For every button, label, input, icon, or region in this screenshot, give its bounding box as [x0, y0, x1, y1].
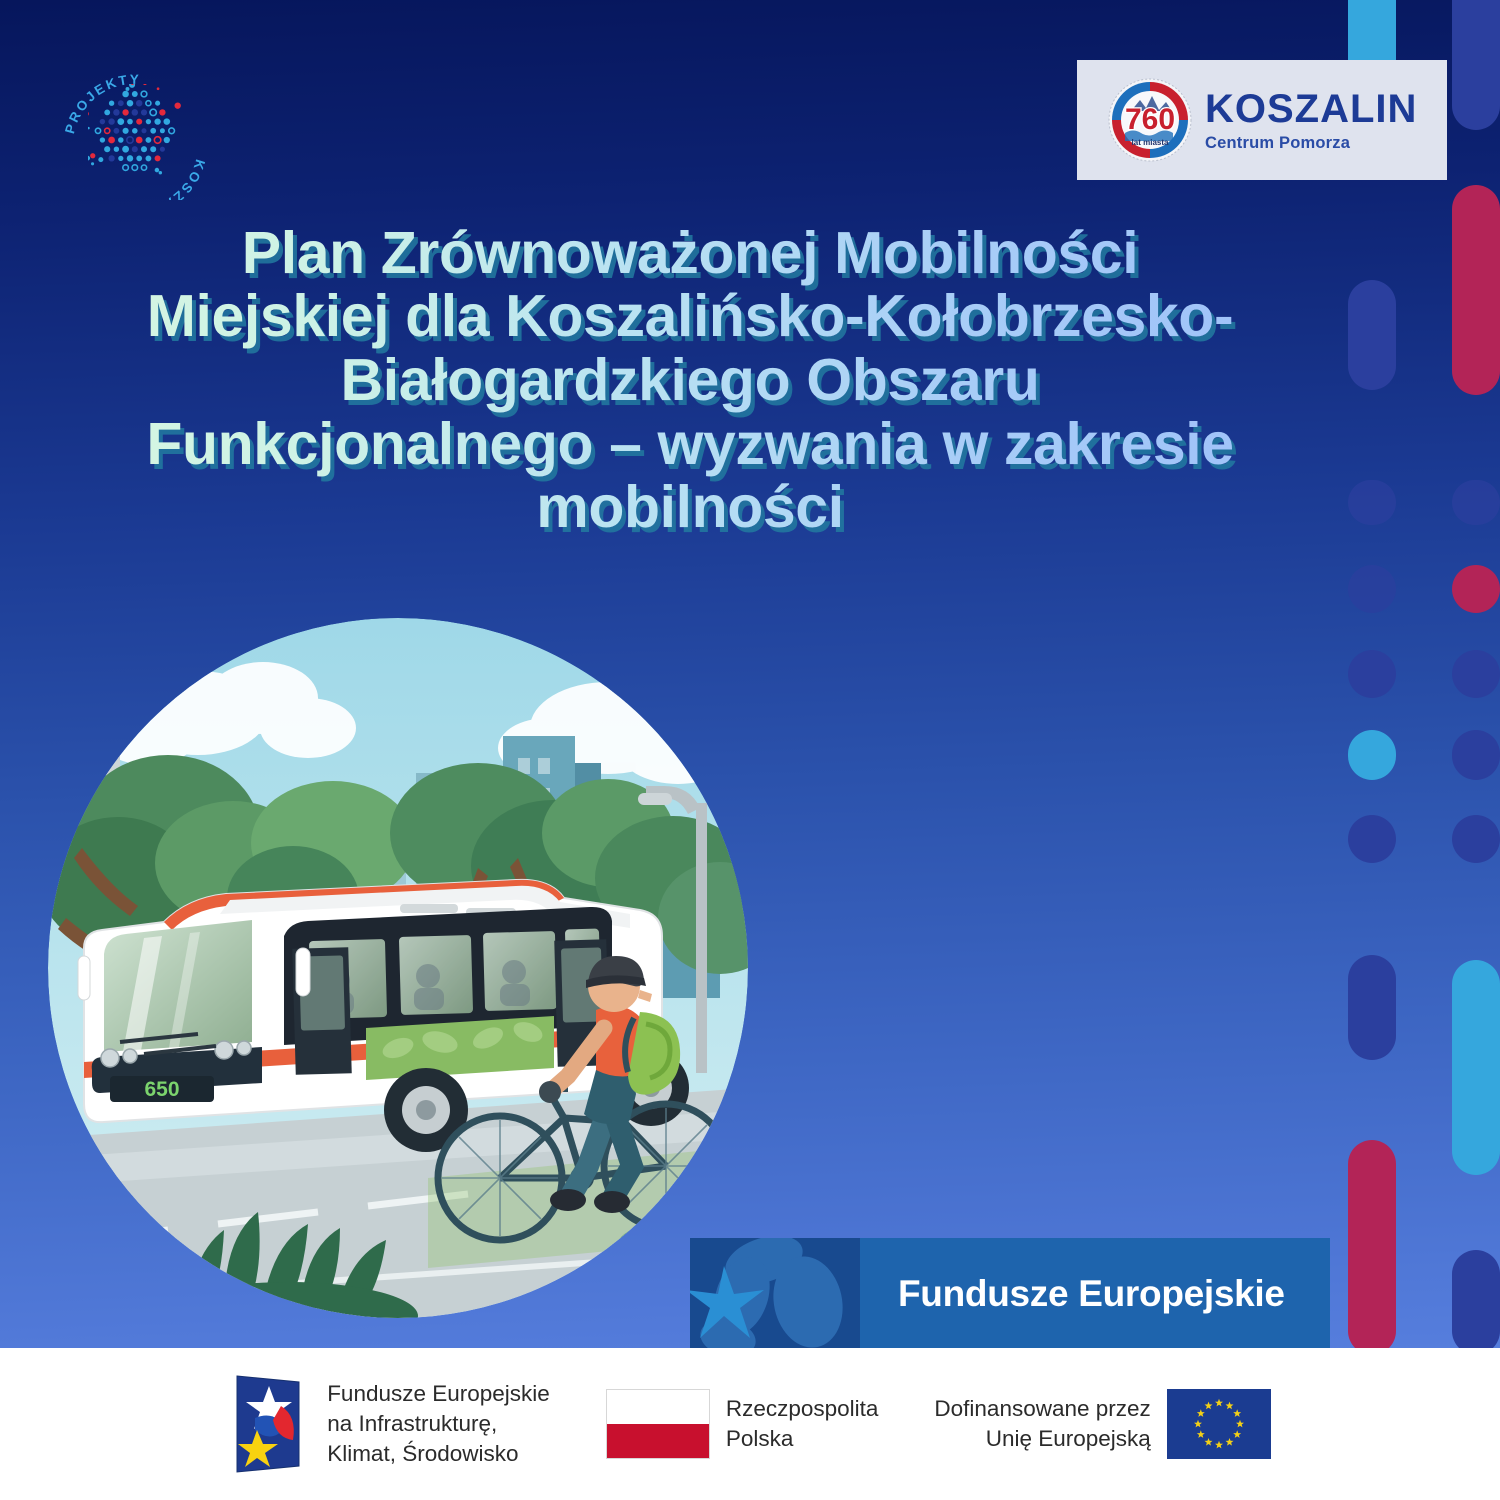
koszalin-tagline: Centrum Pomorza — [1205, 135, 1417, 152]
fundusze-europejskie-banner-label: Fundusze Europejskie — [898, 1273, 1285, 1315]
deco-pill — [1452, 960, 1500, 1175]
globe-dots-icon — [88, 84, 182, 178]
fundusze-europejskie-star-mark — [690, 1238, 860, 1350]
eu-flag-caption: Dofinansowane przez Unię Europejską — [934, 1394, 1150, 1453]
badge-caption: lat miasta — [1132, 138, 1169, 147]
page-title: Plan Zrównoważonej Mobilności Miejskiej … — [20, 222, 1360, 541]
deco-pill — [1348, 955, 1396, 1060]
badge-number: 760 — [1125, 103, 1175, 136]
deco-pill — [1348, 1140, 1396, 1355]
footer-item-rzeczpospolita-polska: Rzeczpospolita Polska — [606, 1389, 879, 1459]
deco-pill — [1348, 565, 1396, 613]
deco-pill — [1452, 0, 1500, 130]
illustration-artwork: 650 — [48, 618, 748, 1318]
koszalin-centrum-pomorza-logo: 760 lat miasta KOSZALIN Centrum Pomorza — [1077, 60, 1447, 180]
deco-pill — [1452, 815, 1500, 863]
funding-logos-footer: Fundusze Europejskie na Infrastrukturę, … — [0, 1348, 1500, 1500]
deco-pill — [1348, 650, 1396, 698]
footer-item-dofinansowane-przez-ue: Dofinansowane przez Unię Europejską — [934, 1389, 1270, 1459]
city-bus-and-cyclist-illustration: 650 — [48, 618, 748, 1318]
bus-line-number: 650 — [144, 1078, 179, 1101]
koszalin-city-name: KOSZALIN — [1205, 89, 1417, 129]
deco-pill — [1452, 185, 1500, 395]
poster-canvas: PROJEKTY KOSZALINA 760 lat miasta KOSZA — [0, 0, 1500, 1500]
projekty-koszalina-logo: PROJEKTY KOSZALINA — [55, 58, 215, 200]
fundusze-europejskie-banner: Fundusze Europejskie — [690, 1238, 1330, 1350]
deco-pill — [1452, 730, 1500, 780]
deco-pill — [1348, 815, 1396, 863]
fe-logo-caption: Fundusze Europejskie na Infrastrukturę, … — [327, 1379, 550, 1468]
deco-pill — [1452, 1250, 1500, 1355]
deco-pill — [1452, 565, 1500, 613]
deco-pill — [1452, 650, 1500, 698]
polish-flag-caption: Rzeczpospolita Polska — [726, 1394, 879, 1453]
deco-pill — [1452, 480, 1500, 525]
footer-item-fundusze-europejskie: Fundusze Europejskie na Infrastrukturę, … — [229, 1372, 550, 1476]
eu-flag — [1167, 1389, 1271, 1459]
760-lat-miasta-badge: 760 lat miasta — [1107, 77, 1193, 163]
polish-flag — [606, 1389, 710, 1459]
deco-pill — [1348, 730, 1396, 780]
right-edge-pill-pattern — [1330, 0, 1500, 1360]
fe-flag-stars-logo — [229, 1372, 311, 1476]
